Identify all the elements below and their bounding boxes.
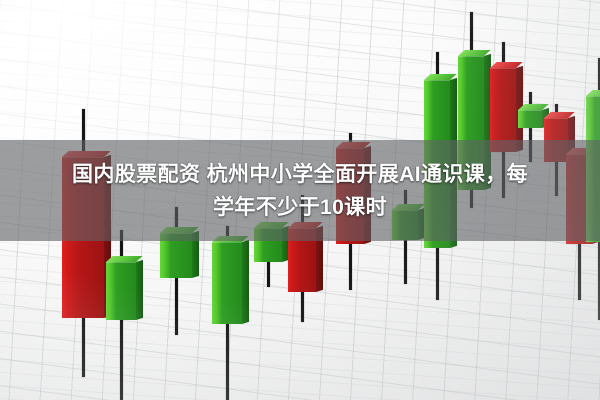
- headline-line-2: 学年不少于10课时: [20, 191, 580, 224]
- candlestick-body-top: [586, 90, 600, 96]
- headline-line-1: 国内股票配资 杭州中小学全面开展AI通识课，每: [20, 158, 580, 191]
- candlestick-body: [212, 242, 242, 324]
- candlestick-body-side: [242, 240, 249, 324]
- headline-overlay-band: 国内股票配资 杭州中小学全面开展AI通识课，每 学年不少于10课时: [0, 140, 600, 241]
- candlestick-body-side: [136, 260, 143, 320]
- candlestick-body: [106, 262, 136, 320]
- candlestick-body-face: [518, 110, 542, 128]
- headline-text: 国内股票配资 杭州中小学全面开展AI通识课，每 学年不少于10课时: [20, 158, 580, 224]
- candlestick-body: [518, 110, 542, 128]
- candlestick-body-face: [106, 262, 136, 320]
- thumbnail-canvas: 国内股票配资 杭州中小学全面开展AI通识课，每 学年不少于10课时: [0, 0, 600, 400]
- candlestick-body-face: [212, 242, 242, 324]
